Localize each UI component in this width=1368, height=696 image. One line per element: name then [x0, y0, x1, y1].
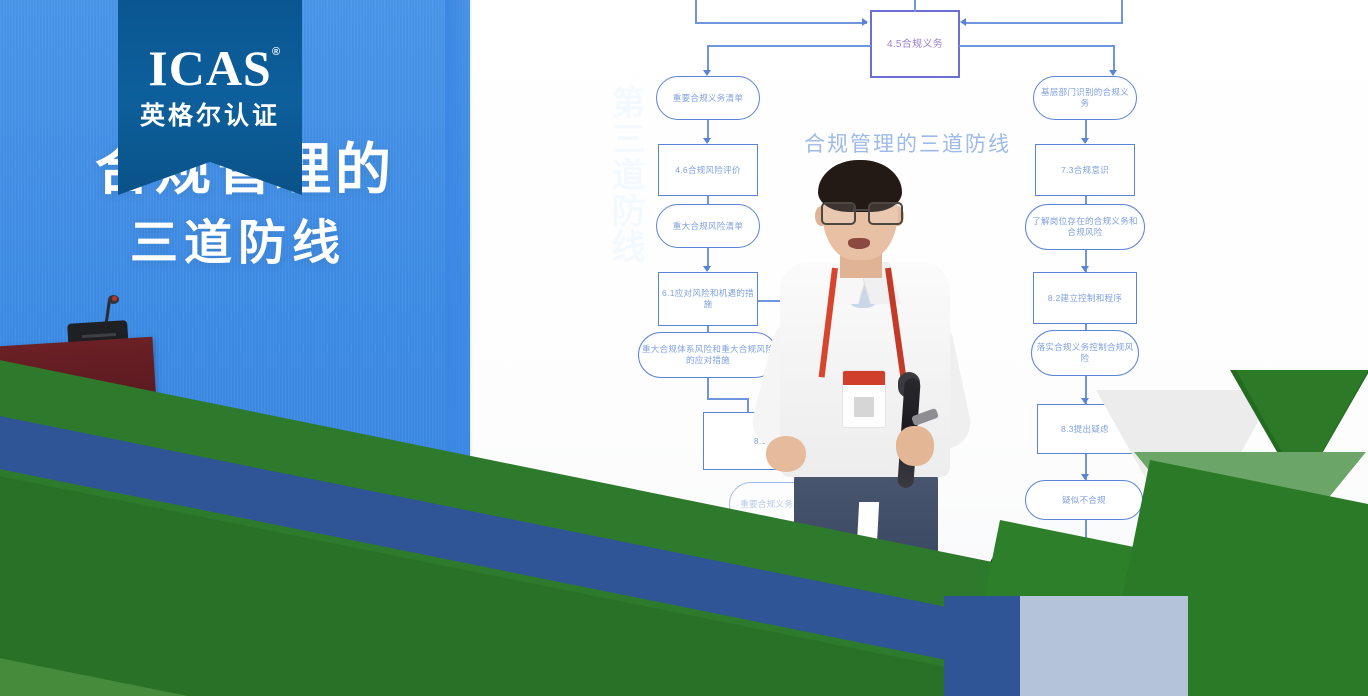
podium-mic-indicator-icon	[112, 296, 117, 301]
speaker-right-hand	[896, 426, 934, 466]
speaker-mouth	[848, 238, 870, 249]
registered-trademark-icon: ®	[272, 46, 280, 58]
badge-qr-code-icon	[854, 397, 874, 417]
glasses-lens-left	[821, 202, 856, 225]
overlay-grey-block	[1020, 596, 1188, 696]
badge-header	[843, 371, 885, 385]
speaker-left-hand	[766, 436, 806, 472]
slide-watermark: 第三道防线	[585, 85, 645, 265]
conference-presentation-screenshot: 第三道防线 合规管理的三道防线 4.5合规义务 重要合规义务清单 4.6合规风险…	[0, 0, 1368, 696]
glasses-lens-right	[868, 202, 903, 225]
glasses-icon	[820, 202, 902, 222]
icas-chinese-name: 英格尔认证	[118, 96, 302, 132]
speaker-badge	[842, 370, 886, 428]
backdrop-subheadline: 三道防线	[130, 203, 346, 273]
glasses-bridge	[853, 209, 869, 211]
